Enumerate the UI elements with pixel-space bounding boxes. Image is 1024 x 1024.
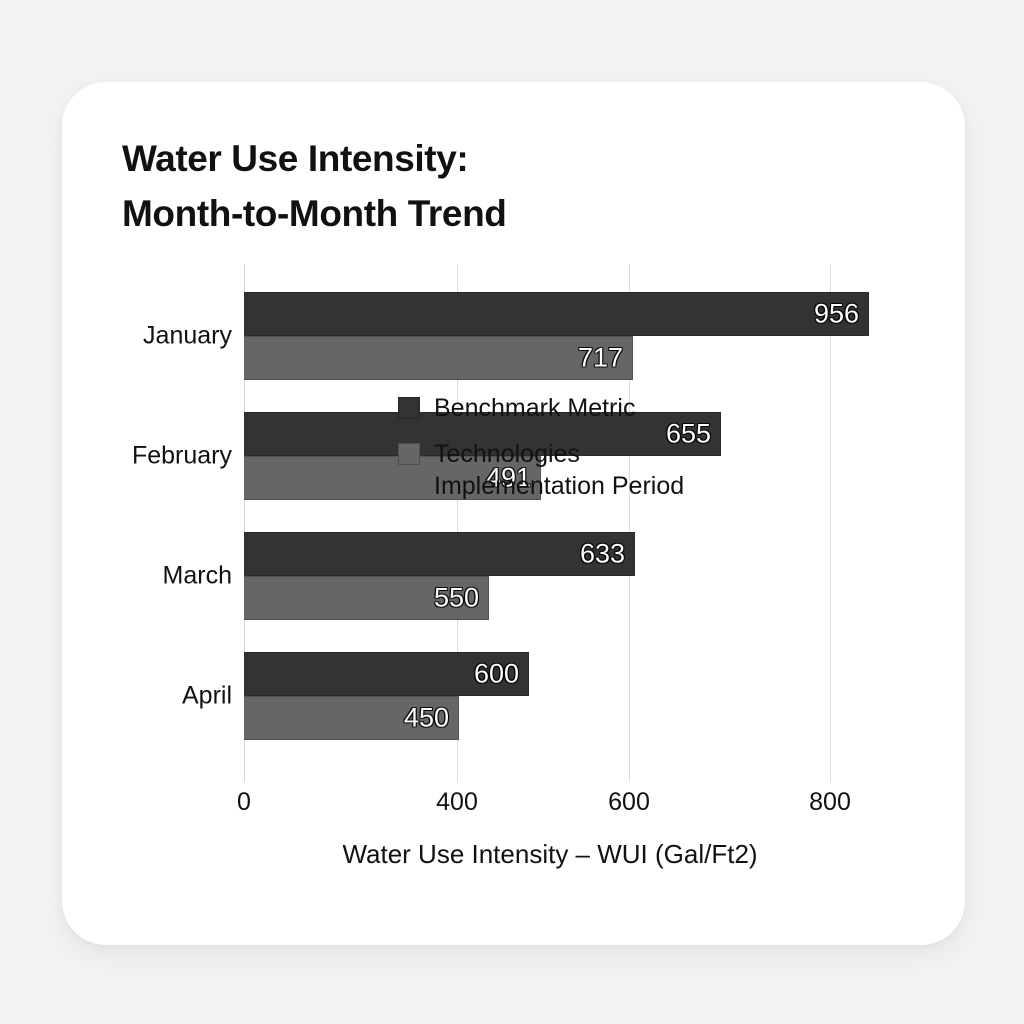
x-tick-label: 800 [809,788,851,817]
legend-label: Technologies Implementation Period [434,438,718,502]
y-axis-category-label: February [0,442,232,471]
bar[interactable]: 600 [244,652,529,696]
x-tick-label: 0 [237,788,251,817]
bar-value-label: 633 [580,541,625,568]
bar[interactable]: 956 [244,292,869,336]
legend-swatch-icon [398,443,420,465]
bar-value-label: 717 [578,345,623,372]
y-axis-category-label: January [0,322,232,351]
plot-area: Water Use Intensity – WUI (Gal/Ft2) 0400… [244,264,856,782]
legend-item-benchmark-metric[interactable]: Benchmark Metric [398,392,718,424]
legend-item-technologies-implementation-period[interactable]: Technologies Implementation Period [398,438,718,502]
bar-value-label: 550 [434,585,479,612]
bar-value-label: 600 [474,661,519,688]
bar-value-label: 956 [814,301,859,328]
bar[interactable]: 633 [244,532,635,576]
x-tick-label: 600 [608,788,650,817]
y-axis-category-label: March [0,562,232,591]
chart-page: Water Use Intensity: Month-to-Month Tren… [0,0,1024,1024]
x-axis-title: Water Use Intensity – WUI (Gal/Ft2) [244,839,856,870]
legend-label: Benchmark Metric [434,392,635,424]
bar-value-label: 450 [404,705,449,732]
x-gridline [830,264,831,782]
bar[interactable]: 717 [244,336,633,380]
chart-legend: Benchmark Metric Technologies Implementa… [398,392,718,516]
chart-title: Water Use Intensity: Month-to-Month Tren… [122,132,742,242]
x-tick-label: 400 [436,788,478,817]
bar[interactable]: 450 [244,696,459,740]
y-axis-category-label: April [0,682,232,711]
bar[interactable]: 550 [244,576,489,620]
legend-swatch-icon [398,397,420,419]
